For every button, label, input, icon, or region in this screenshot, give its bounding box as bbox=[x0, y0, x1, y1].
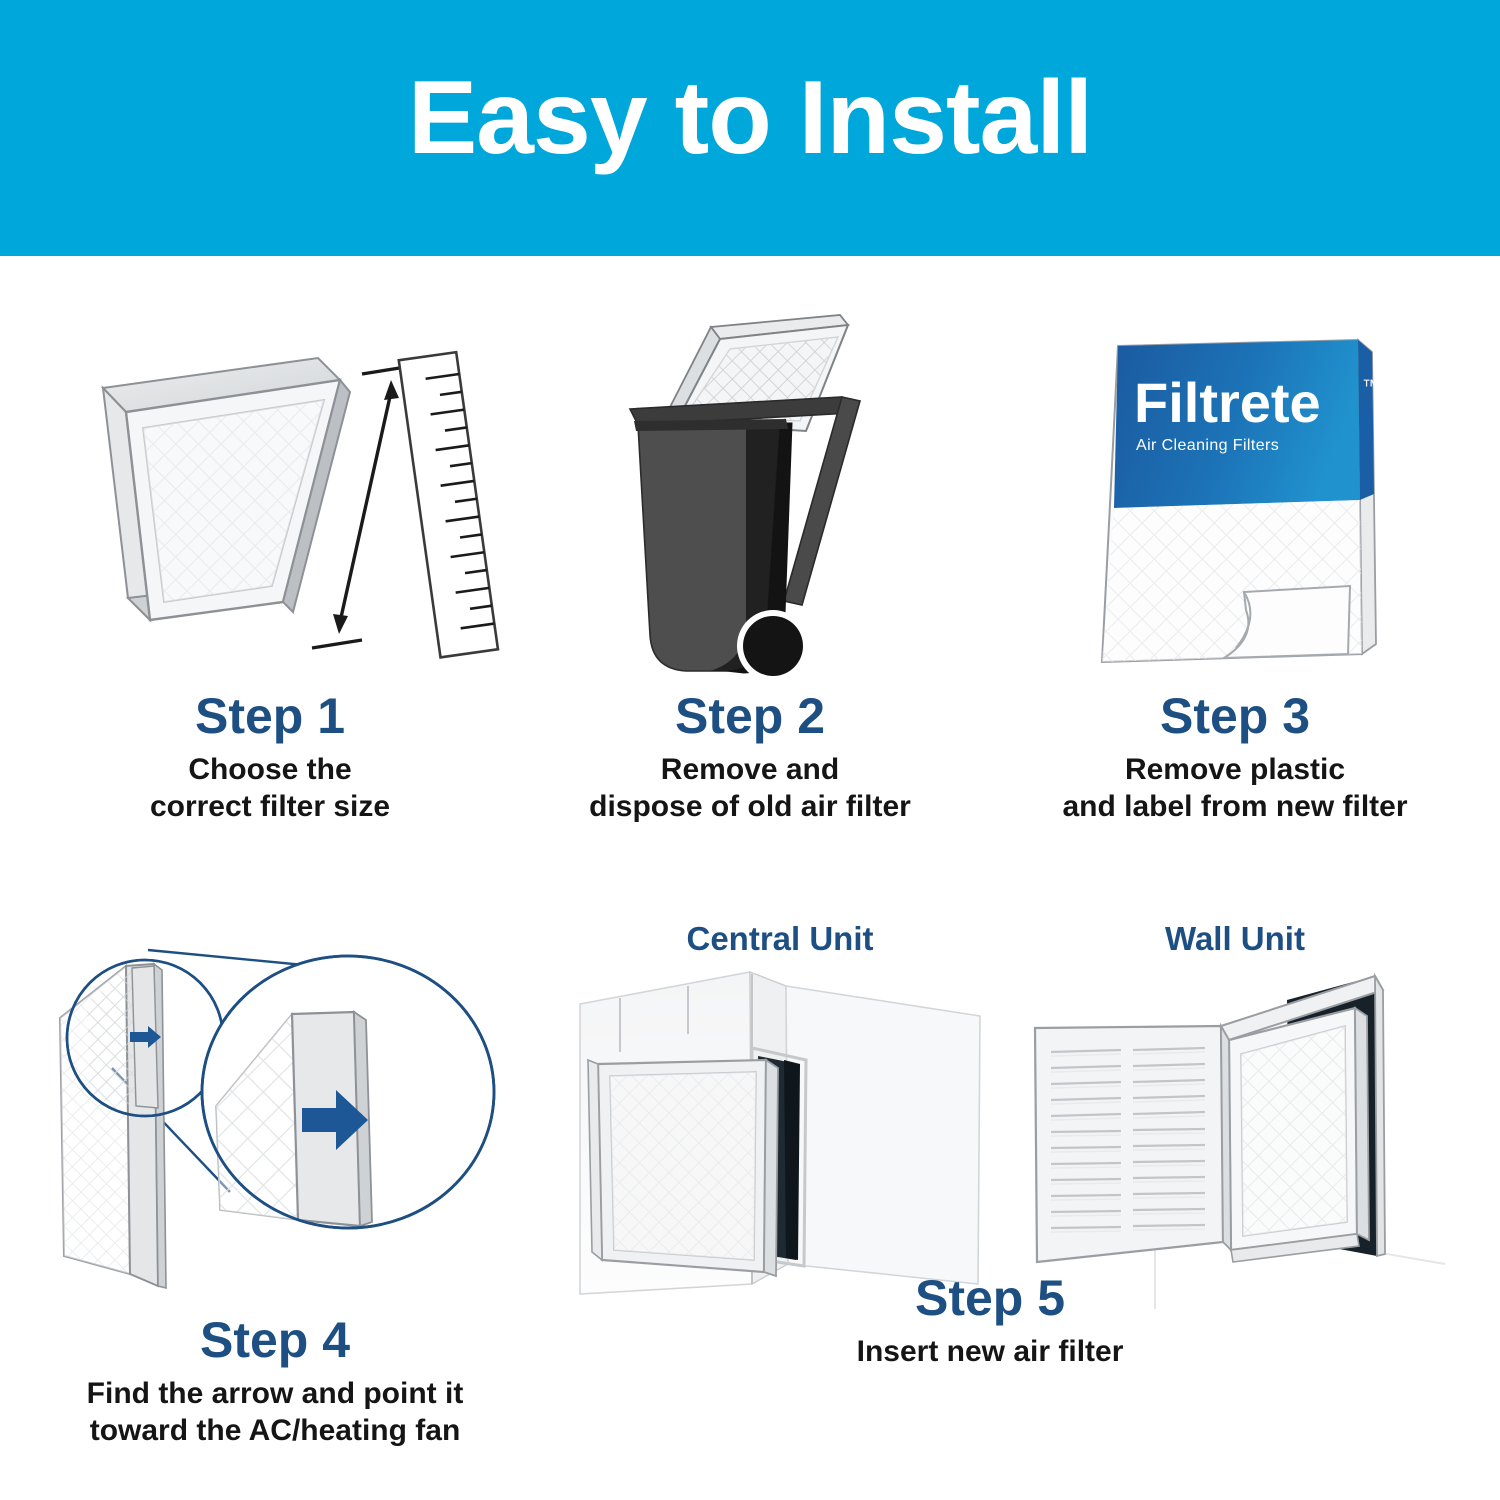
wall-unit-illustration: Wall Unit bbox=[1025, 920, 1445, 1309]
step-title-1: Step 1 bbox=[40, 690, 500, 743]
package-brand-text: Filtrete bbox=[1134, 371, 1321, 434]
step-card-5: Step 5 Insert new air filter bbox=[730, 1272, 1250, 1370]
step-description-4: Find the arrow and point it toward the A… bbox=[30, 1375, 520, 1450]
step-description-2: Remove and dispose of old air filter bbox=[530, 751, 970, 826]
filter-with-ruler-icon bbox=[40, 330, 500, 690]
step-title-2: Step 2 bbox=[530, 690, 970, 743]
header-banner: Easy to Install bbox=[0, 0, 1500, 256]
package-tagline-text: Air Cleaning Filters bbox=[1136, 437, 1279, 454]
central-unit-illustration: Central Unit bbox=[580, 920, 980, 1309]
step-card-4: Step 4 Find the arrow and point it towar… bbox=[30, 920, 520, 1450]
step-card-2: Step 2 Remove and dispose of old air fil… bbox=[530, 305, 970, 826]
page-title: Easy to Install bbox=[0, 66, 1500, 170]
step-description-5: Insert new air filter bbox=[730, 1333, 1250, 1371]
filtrete-package-icon: Filtrete ™ Air Cleaning Filters bbox=[1010, 318, 1460, 690]
step-title-3: Step 3 bbox=[1010, 690, 1460, 743]
svg-text:™: ™ bbox=[1362, 376, 1380, 396]
step-card-1: Step 1 Choose the correct filter size bbox=[40, 330, 500, 826]
step-title-5: Step 5 bbox=[730, 1272, 1250, 1325]
unit-label-central: Central Unit bbox=[580, 920, 980, 958]
step-card-3: Filtrete ™ Air Cleaning Filters Step 3 R… bbox=[1010, 318, 1460, 826]
unit-label-wall: Wall Unit bbox=[1025, 920, 1445, 958]
step-description-1: Choose the correct filter size bbox=[40, 751, 500, 826]
step-description-3: Remove plastic and label from new filter bbox=[1010, 751, 1460, 826]
filter-airflow-arrow-magnifier-icon bbox=[30, 920, 520, 1320]
step-title-4: Step 4 bbox=[30, 1314, 520, 1367]
trash-bin-with-filter-icon bbox=[530, 305, 970, 690]
